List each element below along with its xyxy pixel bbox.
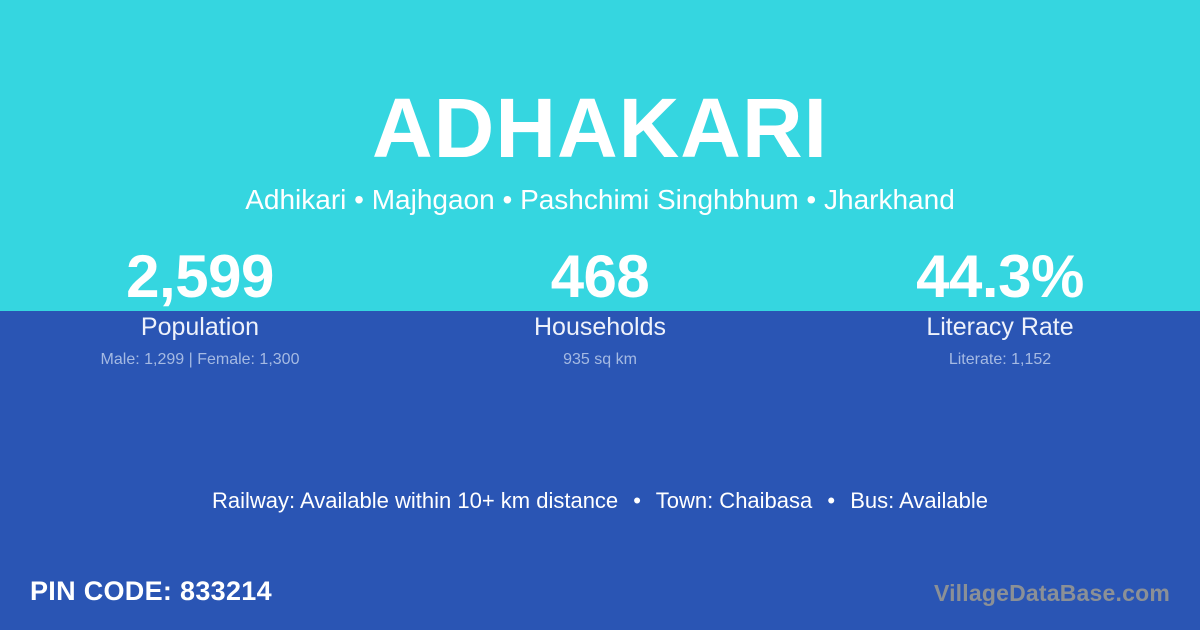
stat-detail-literacy-rate: Literate: 1,152 xyxy=(800,350,1200,370)
stats-row: 2,599 Population Male: 1,299 | Female: 1… xyxy=(0,243,1200,370)
stat-detail-population: Male: 1,299 | Female: 1,300 xyxy=(0,350,400,370)
amenities-row: Railway: Available within 10+ km distanc… xyxy=(0,486,1200,515)
stat-label-households: Households xyxy=(400,312,800,343)
stat-block-households: 468 Households 935 sq km xyxy=(400,243,800,370)
amenity-separator-2: • xyxy=(818,488,844,513)
stat-value-literacy-rate: 44.3% xyxy=(800,243,1200,311)
stat-value-households: 468 xyxy=(400,243,800,311)
card-footer: PIN CODE: 833214 VillageDataBase.com xyxy=(0,574,1200,630)
stat-value-population: 2,599 xyxy=(0,243,400,311)
amenity-bus: Bus: Available xyxy=(850,488,988,513)
village-info-card: ADHAKARI Adhikari • Majhgaon • Pashchimi… xyxy=(0,0,1200,630)
amenity-town: Town: Chaibasa xyxy=(656,488,813,513)
amenity-railway: Railway: Available within 10+ km distanc… xyxy=(212,488,618,513)
stat-block-literacy-rate: 44.3% Literacy Rate Literate: 1,152 xyxy=(800,243,1200,370)
stat-label-literacy-rate: Literacy Rate xyxy=(800,312,1200,343)
pin-code: PIN CODE: 833214 xyxy=(30,574,272,608)
page-title: ADHAKARI xyxy=(0,80,1200,176)
amenity-separator-1: • xyxy=(624,488,650,513)
stat-label-population: Population xyxy=(0,312,400,343)
breadcrumb: Adhikari • Majhgaon • Pashchimi Singhbhu… xyxy=(0,182,1200,218)
brand-watermark: VillageDataBase.com xyxy=(934,579,1170,608)
stat-detail-households: 935 sq km xyxy=(400,350,800,370)
stat-block-population: 2,599 Population Male: 1,299 | Female: 1… xyxy=(0,243,400,370)
